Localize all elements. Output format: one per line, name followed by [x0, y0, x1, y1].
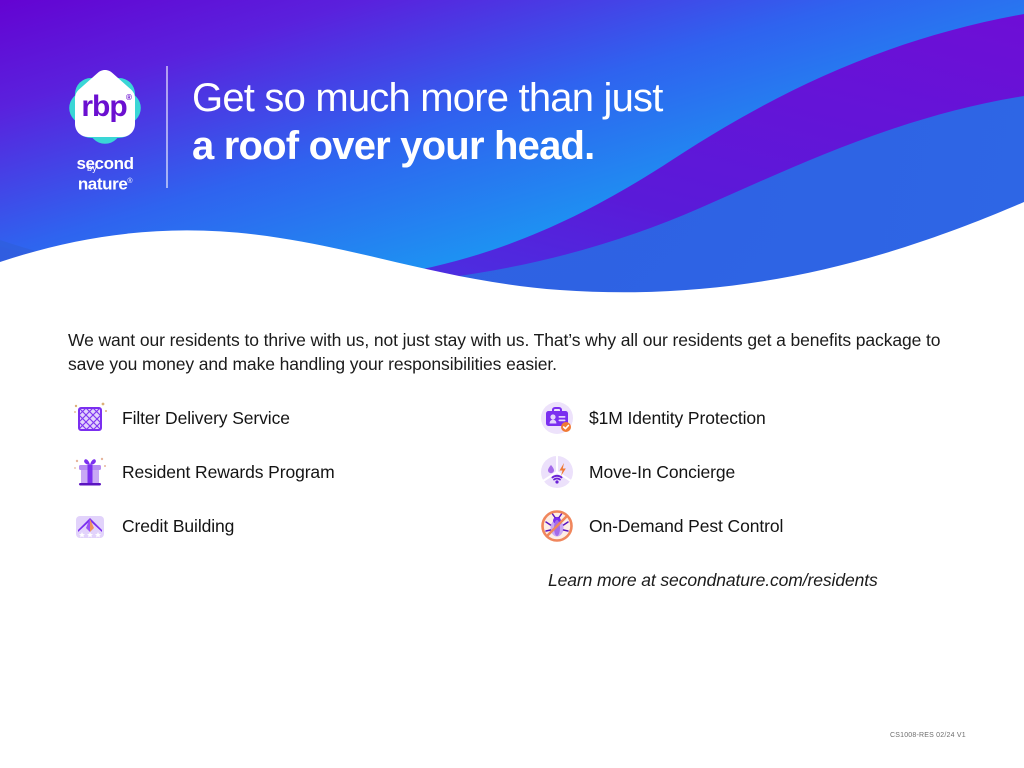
logo-divider	[166, 66, 168, 188]
hero-content: rbp ® by second nature® Get so much more…	[0, 0, 1024, 300]
benefit-label: Filter Delivery Service	[122, 407, 290, 429]
flyer-page: rbp ® by second nature® Get so much more…	[0, 0, 1024, 768]
benefit-identity-protection: $1M Identity Protection	[535, 396, 965, 440]
rbp-logo-wordmark: by second nature®	[56, 154, 154, 193]
headline-line-2: a roof over your head.	[192, 122, 952, 170]
filter-mesh-icon	[68, 396, 112, 440]
learn-more-cta[interactable]: Learn more at secondnature.com/residents	[548, 570, 878, 591]
logo-brand-line-2-text: nature	[78, 175, 128, 194]
logo-brand-line-1: second	[56, 154, 154, 172]
logo-by-label: by	[87, 163, 97, 173]
rbp-logo: rbp ® by second nature®	[56, 62, 154, 190]
logo-registered-mark: ®	[127, 178, 132, 185]
benefits-column-right: $1M Identity Protection	[535, 396, 965, 558]
utilities-circle-icon	[535, 450, 579, 494]
rbp-badge-icon: rbp ®	[59, 62, 151, 154]
benefit-label: Resident Rewards Program	[122, 461, 335, 483]
svg-text:rbp: rbp	[81, 90, 127, 123]
benefit-move-in-concierge: Move-In Concierge	[535, 450, 965, 494]
svg-text:®: ®	[126, 93, 132, 102]
benefit-resident-rewards-program: Resident Rewards Program	[68, 450, 498, 494]
hero-banner: rbp ® by second nature® Get so much more…	[0, 0, 1024, 300]
benefit-pest-control: On-Demand Pest Control	[535, 504, 965, 548]
rbp-logo-mark: rbp ®	[59, 62, 151, 154]
gift-box-icon	[68, 450, 112, 494]
benefit-label: Move-In Concierge	[589, 461, 735, 483]
document-code: CS1008-RES 02/24 V1	[890, 732, 966, 739]
benefits-column-left: Filter Delivery Service	[68, 396, 498, 558]
intro-paragraph: We want our residents to thrive with us,…	[68, 328, 948, 376]
page-title: Get so much more than just a roof over y…	[192, 74, 952, 170]
benefit-label: Credit Building	[122, 515, 234, 537]
id-badge-shield-icon	[535, 396, 579, 440]
benefit-label: On-Demand Pest Control	[589, 515, 783, 537]
no-pest-icon	[535, 504, 579, 548]
benefit-credit-building: Credit Building	[68, 504, 498, 548]
benefit-label: $1M Identity Protection	[589, 407, 766, 429]
logo-brand-line-2: nature®	[56, 172, 154, 193]
credit-rise-icon	[68, 504, 112, 548]
benefit-filter-delivery-service: Filter Delivery Service	[68, 396, 498, 440]
headline-line-1: Get so much more than just	[192, 74, 952, 122]
